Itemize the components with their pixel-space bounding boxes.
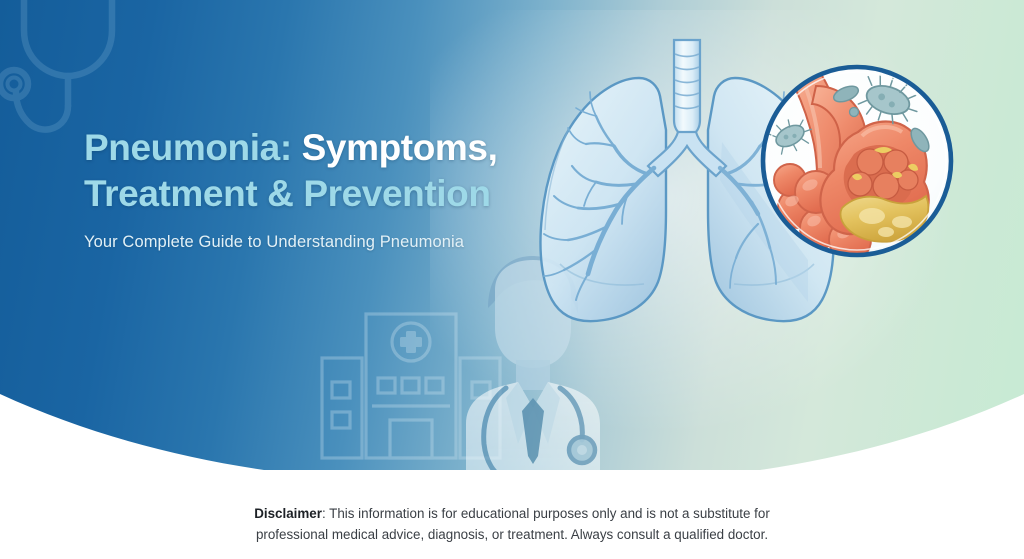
headline-accent: Pneumonia: <box>84 127 292 168</box>
bottom-wave-divider <box>0 360 1024 470</box>
pneumonia-banner-page: Pneumonia: Symptoms,Treatment & Preventi… <box>0 0 1024 559</box>
headline-line-2: Treatment & Prevention <box>84 173 491 214</box>
alveoli-magnified-inset <box>754 58 960 264</box>
hero-banner: Pneumonia: Symptoms,Treatment & Preventi… <box>0 0 1024 470</box>
headline-rest: Symptoms, <box>292 127 498 168</box>
disclaimer-section: Disclaimer: This information is for educ… <box>0 490 1024 559</box>
disclaimer-label: Disclaimer <box>254 506 322 521</box>
title-block: Pneumonia: Symptoms,Treatment & Preventi… <box>84 125 554 253</box>
disclaimer-text: Disclaimer: This information is for educ… <box>222 503 802 545</box>
page-title: Pneumonia: Symptoms,Treatment & Preventi… <box>84 125 554 217</box>
page-subtitle: Your Complete Guide to Understanding Pne… <box>84 231 554 253</box>
stethoscope-watermark-icon <box>0 0 136 138</box>
disclaimer-body: This information is for educational purp… <box>256 506 770 542</box>
